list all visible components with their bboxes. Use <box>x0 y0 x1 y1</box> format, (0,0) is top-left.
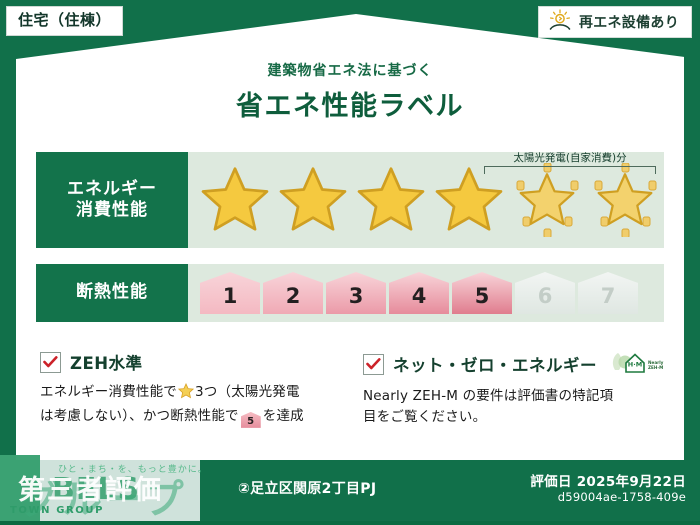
star-filled <box>354 163 428 237</box>
star-filled <box>432 163 506 237</box>
grade-number: 6 <box>538 284 553 314</box>
grade-number: 3 <box>349 284 364 314</box>
note-nze-header: ネット・ゼロ・エネルギー H·M Nearly ZEH-M <box>363 350 664 378</box>
note-zeh-header: ZEH水準 <box>40 350 341 374</box>
insulation-performance-row: 断熱性能 1234567 <box>36 264 664 322</box>
star-rating <box>188 163 662 237</box>
label-heading: 建築物省エネ法に基づく 省エネ性能ラベル <box>0 60 700 123</box>
note-net-zero-energy: ネット・ゼロ・エネルギー H·M Nearly ZEH-M Nearly ZEH… <box>363 350 664 428</box>
insulation-grade-1: 1 <box>200 272 260 314</box>
insulation-grade-5: 5 <box>452 272 512 314</box>
energy-performance-body: 太陽光発電(自家消費)分 <box>188 152 664 248</box>
energy-label-line1: エネルギー <box>67 179 157 200</box>
note-zeh-standard: ZEH水準 エネルギー消費性能で 3つ（太陽光発電 は考慮しない）、かつ断熱性能… <box>40 350 341 428</box>
inline-house-icon: 5 <box>241 412 261 428</box>
energy-label-line2: 消費性能 <box>76 200 148 221</box>
building-type-tag: 住宅（住棟） <box>6 6 123 36</box>
insulation-grade-3: 3 <box>326 272 386 314</box>
star-solar <box>510 163 584 237</box>
energy-performance-label: 住宅（住棟） 再エネ設備あり 建築物省エネ法に基づく 省エネ性能ラベル <box>0 0 700 521</box>
insulation-grade-2: 2 <box>263 272 323 314</box>
note-zeh-text-4: を達成 <box>263 408 304 424</box>
nearly-zeh-m-logo: H·M Nearly ZEH-M <box>612 350 664 378</box>
star-filled <box>276 163 350 237</box>
note-zeh-body: エネルギー消費性能で 3つ（太陽光発電 は考慮しない）、かつ断熱性能で 5 を達… <box>40 382 341 428</box>
note-nze-text-1: Nearly ZEH-M の要件は評価書の特記項 <box>363 388 613 404</box>
solar-annotation-text: 太陽光発電(自家消費)分 <box>484 150 656 165</box>
insulation-label-text: 断熱性能 <box>76 282 148 303</box>
insulation-grade-4: 4 <box>389 272 449 314</box>
heading-title: 省エネ性能ラベル <box>0 84 700 123</box>
inline-star-icon <box>178 383 194 406</box>
check-icon <box>363 354 384 375</box>
svg-text:ZEH-M: ZEH-M <box>648 365 663 370</box>
check-icon <box>40 352 61 373</box>
note-nze-title: ネット・ゼロ・エネルギー <box>393 352 597 376</box>
note-zeh-text-2: 3つ（太陽光発電 <box>195 384 300 400</box>
grade-number: 5 <box>475 284 490 314</box>
renewable-badge-label: 再エネ設備あり <box>579 12 679 32</box>
insulation-performance-label: 断熱性能 <box>36 264 188 322</box>
note-zeh-text-1: エネルギー消費性能で <box>40 384 177 400</box>
insulation-grade-7: 7 <box>578 272 638 314</box>
star-filled <box>198 163 272 237</box>
insulation-grade-scale: 1234567 <box>188 272 638 314</box>
renewable-energy-badge: 再エネ設備あり <box>538 6 692 38</box>
criteria-notes: ZEH水準 エネルギー消費性能で 3つ（太陽光発電 は考慮しない）、かつ断熱性能… <box>40 350 664 428</box>
note-zeh-title: ZEH水準 <box>70 350 143 374</box>
document-id: d59004ae-1758-409e <box>558 490 686 504</box>
insulation-grade-6: 6 <box>515 272 575 314</box>
note-nze-text-2: 目をご覧ください。 <box>363 409 486 425</box>
grade-number: 1 <box>223 284 238 314</box>
note-nze-body: Nearly ZEH-M の要件は評価書の特記項 目をご覧ください。 <box>363 386 664 428</box>
star-solar <box>588 163 662 237</box>
sun-renewable-icon <box>548 9 572 35</box>
grade-number: 2 <box>286 284 301 314</box>
energy-performance-row: エネルギー 消費性能 太陽光発電(自家消費)分 <box>36 152 664 248</box>
heading-subtitle: 建築物省エネ法に基づく <box>0 60 700 80</box>
svg-text:H·M: H·M <box>628 361 642 369</box>
grade-number: 7 <box>601 284 616 314</box>
solar-annotation: 太陽光発電(自家消費)分 <box>484 150 656 174</box>
inline-house-number: 5 <box>241 412 261 432</box>
energy-performance-label: エネルギー 消費性能 <box>36 152 188 248</box>
label-footer: ②足立区関原2丁目PJ 評価日 2025年9月22日 d59004ae-1758… <box>0 460 700 521</box>
insulation-performance-body: 1234567 <box>188 264 664 322</box>
project-name: ②足立区関原2丁目PJ <box>238 478 376 498</box>
evaluation-date: 評価日 2025年9月22日 <box>530 470 686 490</box>
grade-number: 4 <box>412 284 427 314</box>
note-zeh-text-3: は考慮しない）、かつ断熱性能で <box>40 408 239 424</box>
